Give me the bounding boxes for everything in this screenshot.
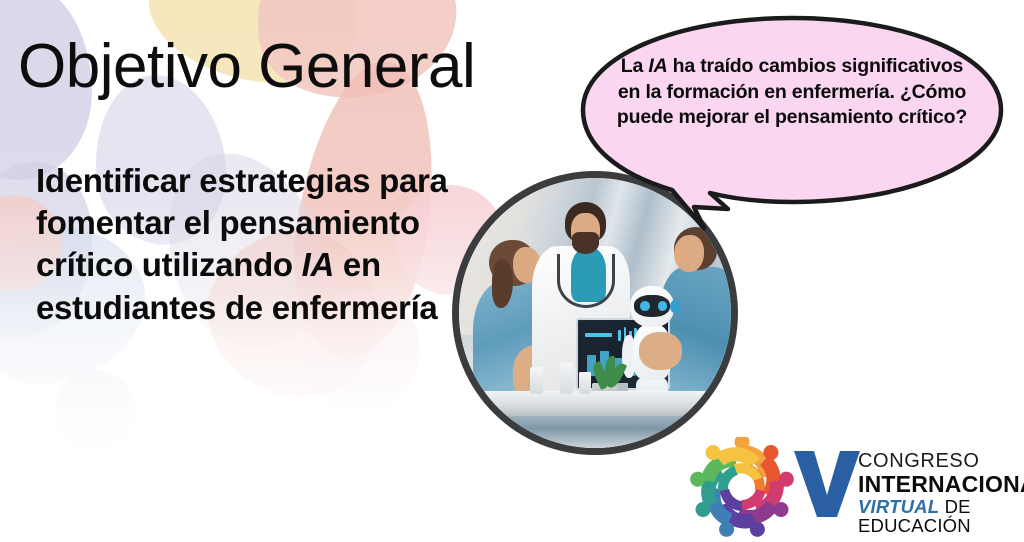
- photo-stethoscope: [557, 254, 615, 308]
- people-circle-figures: [690, 437, 794, 537]
- slide-canvas: Objetivo General Identificar estrategias…: [0, 0, 1024, 542]
- logo-line-virtual-educacion: VIRTUAL DE EDUCACIÓN: [858, 497, 1024, 536]
- roman-numeral-v-icon: [790, 447, 864, 521]
- speech-bubble: La IA ha traído cambios significativos e…: [576, 14, 1008, 244]
- photo-prop-cup-3: [579, 372, 591, 394]
- logo-wordmark: CONGRESO INTERNACIONAL VIRTUAL DE EDUCAC…: [858, 451, 1024, 536]
- congress-logo: CONGRESO INTERNACIONAL VIRTUAL DE EDUCAC…: [690, 437, 1020, 537]
- photo-robot-eye-right: [658, 301, 668, 311]
- objective-text-before: Identificar estrategias para fomentar el…: [36, 162, 448, 283]
- logo-line-internacional: INTERNACIONAL: [858, 472, 1024, 496]
- speech-bubble-text: La IA ha traído cambios significativos e…: [614, 54, 970, 131]
- bg-circle-lavender: [55, 370, 135, 450]
- photo-prop-cup-1: [530, 367, 544, 394]
- logo-line-congreso: CONGRESO: [858, 451, 1024, 472]
- photo-prop-cup-2: [560, 362, 574, 394]
- photo-robot-eye-left: [640, 301, 650, 311]
- speech-bubble-text-before: La: [621, 55, 649, 77]
- page-title: Objetivo General: [18, 34, 475, 99]
- speech-bubble-text-emphasis: IA: [648, 55, 667, 77]
- photo-robot-ear: [670, 300, 680, 314]
- objective-text-emphasis: IA: [302, 246, 334, 283]
- people-circle-icon: [690, 437, 794, 537]
- speech-bubble-text-after: ha traído cambios significativos en la f…: [617, 55, 967, 128]
- logo-virtual-word: VIRTUAL: [858, 496, 939, 517]
- photo-counter-top: [452, 391, 738, 415]
- photo-nurse-right-arm: [639, 332, 683, 370]
- objective-text: Identificar estrategias para fomentar el…: [36, 160, 466, 329]
